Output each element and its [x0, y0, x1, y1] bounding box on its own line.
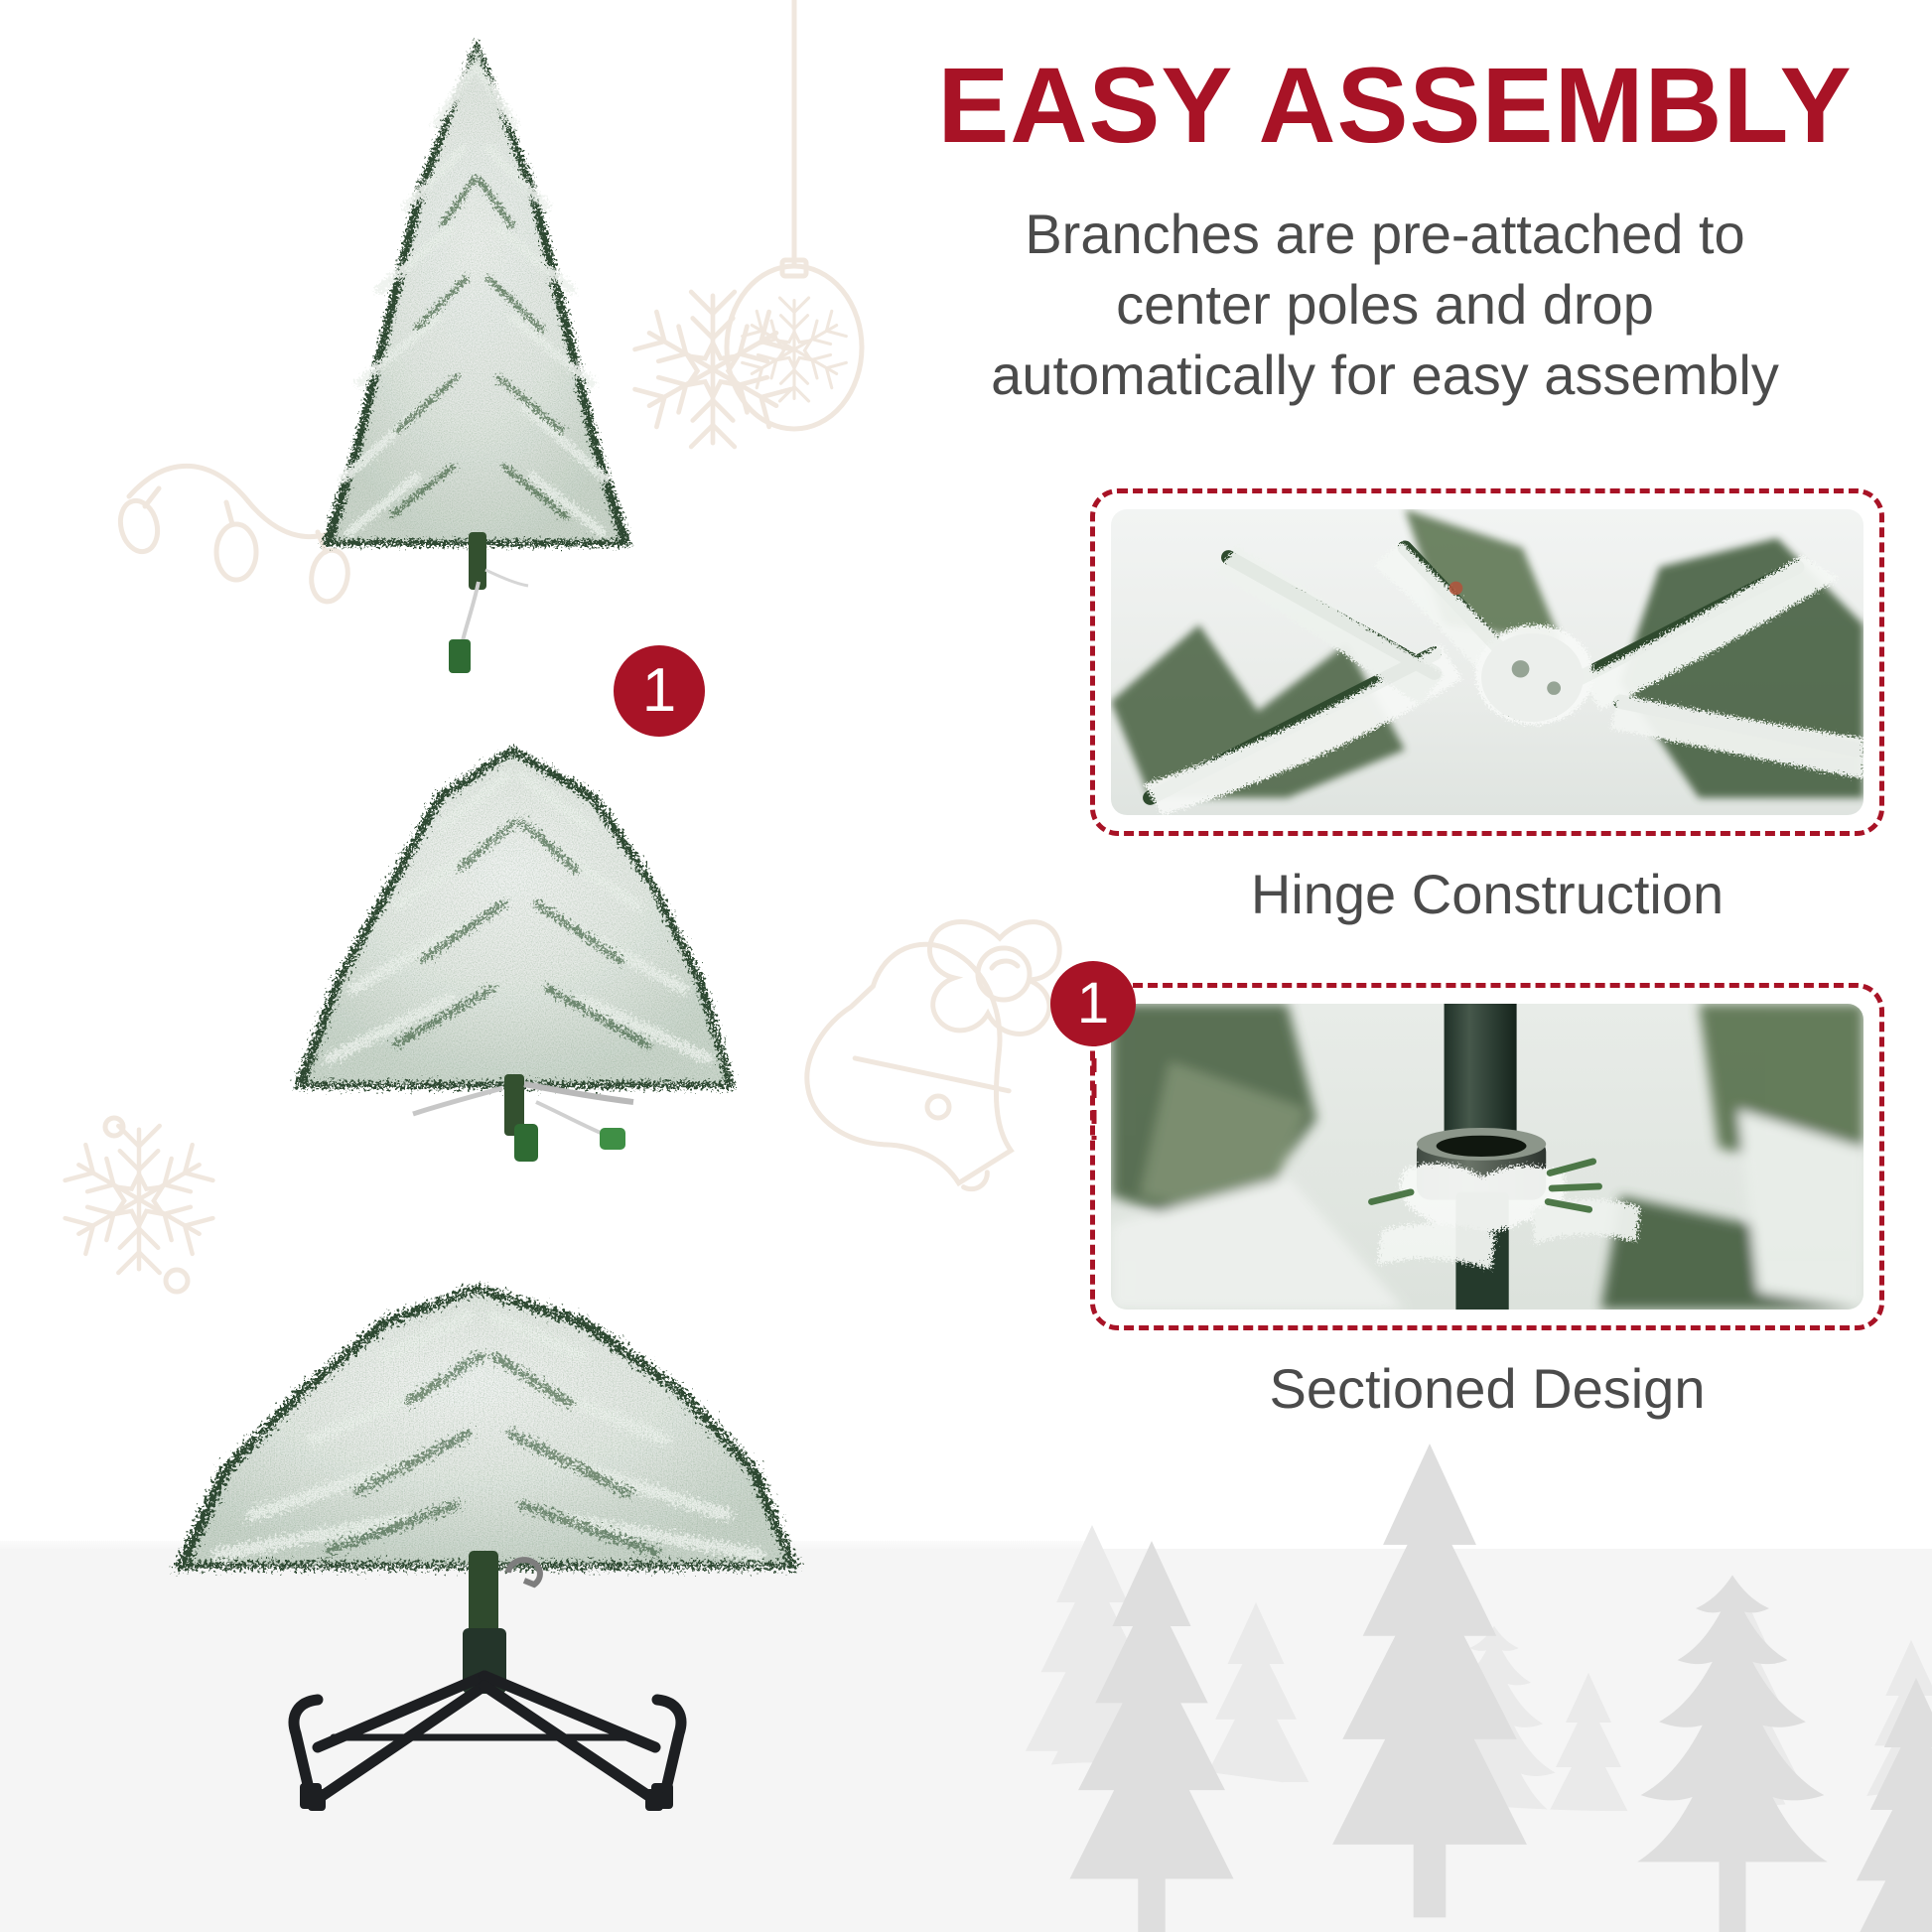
- caption-sectioned-design: Sectioned Design: [1090, 1356, 1884, 1421]
- snowflake-icon: [743, 298, 847, 401]
- subtitle-line-2: center poles and drop: [879, 269, 1891, 340]
- detail-card-sectioned: [1090, 983, 1884, 1330]
- product-photo-bottom-section: [149, 1271, 824, 1906]
- hanging-ornament-icon: [727, 0, 862, 429]
- page-title: EASY ASSEMBLY: [898, 48, 1891, 164]
- hinge-construction-photo: [1111, 509, 1863, 815]
- sectioned-design-photo: [1111, 1004, 1863, 1310]
- bell-icon: [768, 921, 1067, 1226]
- product-infographic: EASY ASSEMBLY Branches are pre-attached …: [0, 0, 1932, 1932]
- product-photo-top-section: [268, 30, 685, 685]
- step-badge-1: 1: [614, 645, 705, 737]
- badge-connector-dashes: [1072, 1033, 1191, 1152]
- detail-card-hinge: [1090, 488, 1884, 836]
- caption-hinge-construction: Hinge Construction: [1090, 862, 1884, 926]
- snowflake-icon: [66, 1126, 213, 1273]
- tree-stand-feet: [300, 1783, 673, 1811]
- subtitle-line-3: automatically for easy assembly: [879, 340, 1891, 410]
- product-photo-middle-section: [238, 735, 794, 1291]
- dot-decoration: [105, 1118, 123, 1136]
- dot-decoration: [927, 1096, 949, 1118]
- subtitle-line-1: Branches are pre-attached to: [879, 199, 1891, 269]
- page-subtitle: Branches are pre-attached to center pole…: [879, 199, 1891, 410]
